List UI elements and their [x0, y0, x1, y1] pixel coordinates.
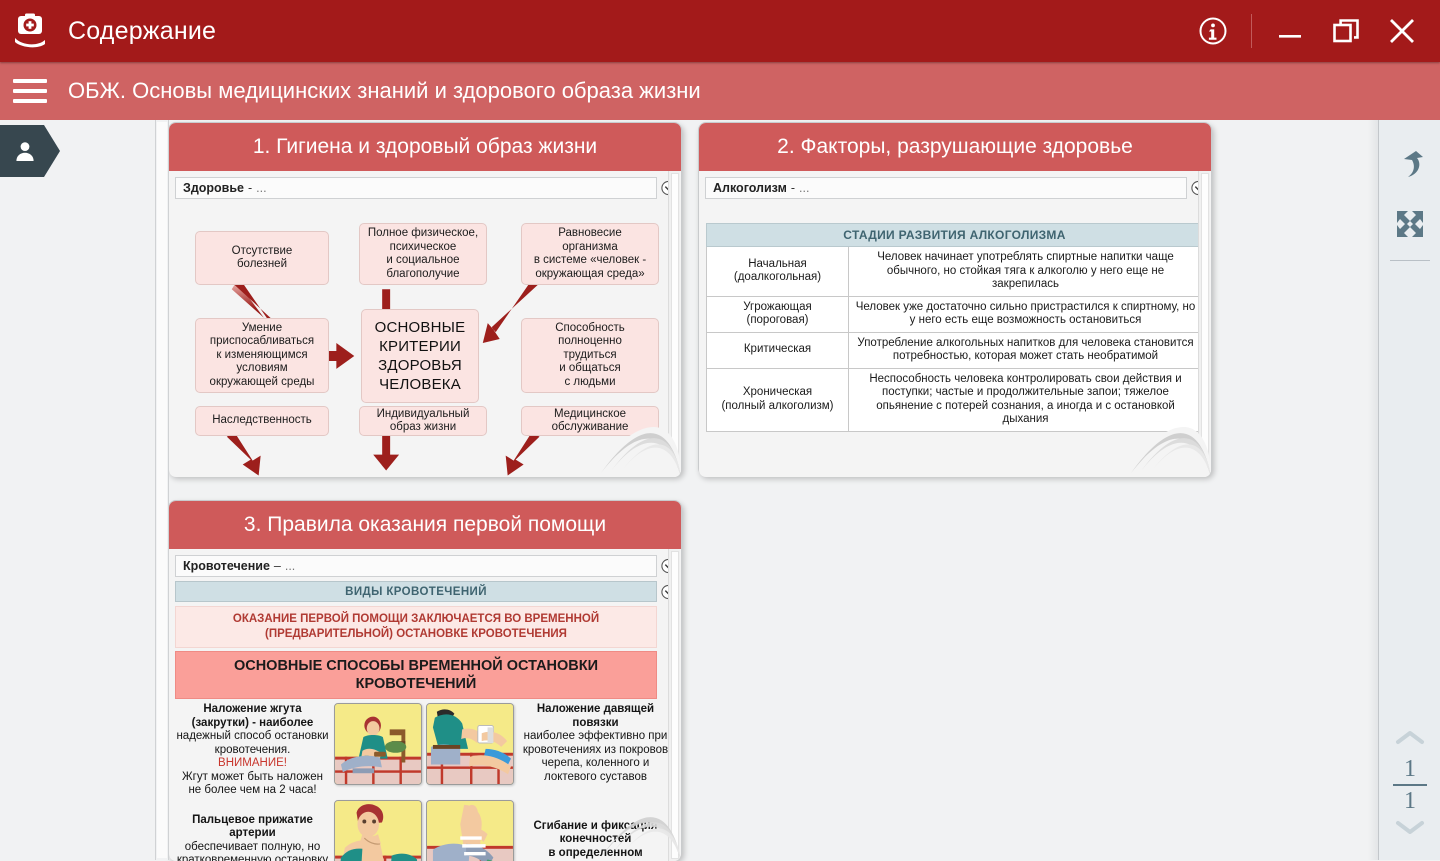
pressure-bandage-photo[interactable]: [426, 703, 514, 785]
center-line-3: ЗДОРОВЬЯ: [378, 356, 462, 375]
collapse-dash: -: [791, 181, 795, 195]
table-row: Начальная (доалкогольная) Человек начина…: [707, 247, 1203, 297]
method-4-text: Сгибание и фиксация конечностей в опреде…: [518, 820, 673, 861]
diagram-center-node: ОСНОВНЫЕ КРИТЕРИИ ЗДОРОВЬЯ ЧЕЛОВЕКА: [361, 309, 479, 403]
collapse-dots: ...: [256, 181, 266, 195]
diagram-box-1: Отсутствие болезней: [195, 231, 329, 285]
chevron-down-icon: [1395, 819, 1425, 835]
collapse-term: Кровотечение: [183, 559, 270, 573]
method-4-title: Сгибание и фиксация: [518, 820, 673, 834]
user-profile-icon: [14, 140, 36, 162]
method-2-body: наиболее эффективно при кровотечениях из…: [518, 730, 673, 784]
panel-factors-title: 2. Факторы, разрушающие здоровье: [699, 123, 1211, 171]
stage-desc: Человек начинает употреблять спиртные на…: [849, 247, 1203, 297]
panel-hygiene-title: 1. Гигиена и здоровый образ жизни: [169, 123, 681, 171]
stage-name: Начальная (доалкогольная): [707, 247, 849, 297]
collapse-dash: -: [248, 181, 252, 195]
method-2-title2: повязки: [518, 717, 673, 731]
close-button[interactable]: [1374, 0, 1430, 62]
hamburger-menu-icon: [13, 79, 47, 83]
firstaid-notice: ОКАЗАНИЕ ПЕРВОЙ ПОМОЩИ ЗАКЛЮЧАЕТСЯ ВО ВР…: [175, 606, 657, 648]
stage-name: Критическая: [707, 332, 849, 368]
table-row: Угрожающая (пороговая) Человек уже доста…: [707, 296, 1203, 332]
table-row: Хроническая (полный алкоголизм) Неспособ…: [707, 368, 1203, 431]
panel-hygiene-body: Здоровье - ...: [169, 171, 681, 477]
panel-firstaid-scrollbar[interactable]: [668, 549, 680, 861]
method-1-title2: (закрутки) - наиболее: [175, 717, 330, 731]
method-1-title: Наложение жгута: [175, 703, 330, 717]
medical-kit-icon: [13, 13, 47, 49]
firstaid-methods-grid: Наложение жгута (закрутки) - наиболее на…: [175, 703, 675, 861]
health-criteria-diagram: Отсутствие болезней Полное физическое, п…: [169, 199, 681, 477]
method-4-title2: конечностей: [518, 833, 673, 847]
stage-desc: Неспособность человека контролировать св…: [849, 368, 1203, 431]
fullscreen-button[interactable]: [1379, 194, 1440, 254]
center-line-4: ЧЕЛОВЕКА: [379, 375, 461, 394]
page-rule: [1393, 784, 1427, 786]
total-pages: 1: [1404, 787, 1416, 815]
undo-curved-arrow-icon: [1393, 147, 1427, 181]
firstaid-section-title: ОСНОВНЫЕ СПОСОБЫ ВРЕМЕННОЙ ОСТАНОВКИ КРО…: [175, 651, 657, 699]
collapse-dots: ...: [285, 559, 295, 573]
collapse-term: Здоровье: [183, 181, 244, 195]
method-1-body2: Жгут может быть наложен не более чем на …: [175, 771, 330, 798]
undo-button[interactable]: [1379, 134, 1440, 194]
alcoholism-stages-table: СТАДИИ РАЗВИТИЯ АЛКОГОЛИЗМА Начальная (д…: [706, 223, 1203, 432]
app-logo: [0, 0, 60, 62]
title-bar: Содержание: [0, 0, 1440, 62]
restore-button[interactable]: [1318, 0, 1374, 62]
titlebar-separator: [1251, 14, 1252, 48]
sub-header: ОБЖ. Основы медицинских знаний и здорово…: [0, 62, 1440, 120]
page-up-button[interactable]: [1395, 726, 1425, 755]
method-3-body: обеспечивает полную, но кратковременную …: [175, 841, 330, 861]
panel-factors-body: Алкоголизм - ... СТАДИИ РАЗВИТИЯ АЛКОГОЛ…: [699, 171, 1211, 477]
panel-factors: 2. Факторы, разрушающие здоровье Алкогол…: [698, 122, 1212, 476]
method-4-title3: в определенном: [518, 847, 673, 861]
method-3-title: Пальцевое прижатие: [175, 814, 330, 828]
diagram-box-4: Умение приспосабливаться к изменяющимся …: [195, 318, 329, 393]
page-down-button[interactable]: [1395, 815, 1425, 844]
diagram-box-3: Равновесие организма в системе «человек …: [521, 223, 659, 285]
diagram-box-6: Наследственность: [195, 406, 329, 436]
collapse-row-health[interactable]: Здоровье - ...: [175, 177, 657, 199]
diagram-box-7: Индивидуальный образ жизни: [359, 406, 487, 436]
collapse-term: Алкоголизм: [713, 181, 787, 195]
method-1-text: Наложение жгута (закрутки) - наиболее на…: [175, 703, 330, 798]
canvas-right-edge: [1368, 120, 1378, 860]
chevron-up-icon: [1395, 730, 1425, 746]
window-title: Содержание: [68, 17, 216, 46]
collapse-row-bleeding[interactable]: Кровотечение – ...: [175, 555, 657, 577]
collapse-dash: –: [274, 559, 281, 573]
hamburger-menu-button[interactable]: [0, 62, 60, 120]
toolbar-divider: [1390, 260, 1430, 261]
tourniquet-photo[interactable]: [334, 703, 422, 785]
stage-name: Угрожающая (пороговая): [707, 296, 849, 332]
minimize-button[interactable]: [1262, 0, 1318, 62]
limb-flexion-photo[interactable]: [426, 800, 514, 861]
center-line-2: КРИТЕРИИ: [379, 337, 461, 356]
info-button[interactable]: [1185, 0, 1241, 62]
minimize-icon: [1275, 16, 1305, 46]
expand-fullscreen-icon: [1394, 208, 1426, 240]
diagram-box-5: Способность полноценно трудиться и общат…: [521, 318, 659, 393]
method-3-text: Пальцевое прижатие артерии обеспечивает …: [175, 814, 330, 861]
scrollbar-thumb[interactable]: [157, 122, 167, 858]
panel-factors-scrollbar[interactable]: [1198, 171, 1210, 477]
panel-firstaid: 3. Правила оказания первой помощи Кровот…: [168, 500, 682, 860]
stage-name: Хроническая (полный алкоголизм): [707, 368, 849, 431]
method-1-body: надежный способ остановки кровотечения.: [175, 730, 330, 757]
method-1-warning: ВНИМАНИЕ!: [175, 757, 330, 771]
panel-hygiene: 1. Гигиена и здоровый образ жизни Здоров…: [168, 122, 682, 476]
bleeding-types-label: ВИДЫ КРОВОТЕЧЕНИЙ: [345, 586, 487, 598]
course-title: ОБЖ. Основы медицинских знаний и здорово…: [68, 78, 701, 104]
close-icon: [1386, 15, 1418, 47]
stage-desc: Человек уже достаточно сильно пристрасти…: [849, 296, 1203, 332]
page-navigator: 1 1: [1379, 726, 1440, 844]
bleeding-types-bar[interactable]: ВИДЫ КРОВОТЕЧЕНИЙ: [175, 581, 657, 602]
finger-pressure-photo[interactable]: [334, 800, 422, 861]
collapse-dots: ...: [799, 181, 809, 195]
stage-desc: Употребление алкогольных напитков для че…: [849, 332, 1203, 368]
canvas-left-scrollbar[interactable]: [155, 120, 169, 860]
diagram-box-8: Медицинское обслуживание: [521, 406, 659, 436]
right-toolbar: 1 1: [1378, 120, 1440, 860]
info-icon: [1198, 16, 1228, 46]
table-header: СТАДИИ РАЗВИТИЯ АЛКОГОЛИЗМА: [707, 224, 1203, 247]
table-row: Критическая Употребление алкогольных нап…: [707, 332, 1203, 368]
collapse-row-alcoholism[interactable]: Алкоголизм - ...: [705, 177, 1187, 199]
panel-hygiene-scrollbar[interactable]: [668, 171, 680, 477]
restore-icon: [1331, 16, 1361, 46]
method-3-title2: артерии: [175, 827, 330, 841]
method-2-text: Наложение давящей повязки наиболее эффек…: [518, 703, 673, 784]
diagram-box-2: Полное физическое, психическое и социаль…: [359, 223, 487, 285]
center-line-1: ОСНОВНЫЕ: [375, 318, 466, 337]
current-page: 1: [1404, 755, 1416, 783]
method-2-title: Наложение давящей: [518, 703, 673, 717]
panel-firstaid-title: 3. Правила оказания первой помощи: [169, 501, 681, 549]
panel-firstaid-body: Кровотечение – ... ВИДЫ КРОВОТЕЧЕНИЙ ОКА…: [169, 549, 681, 861]
